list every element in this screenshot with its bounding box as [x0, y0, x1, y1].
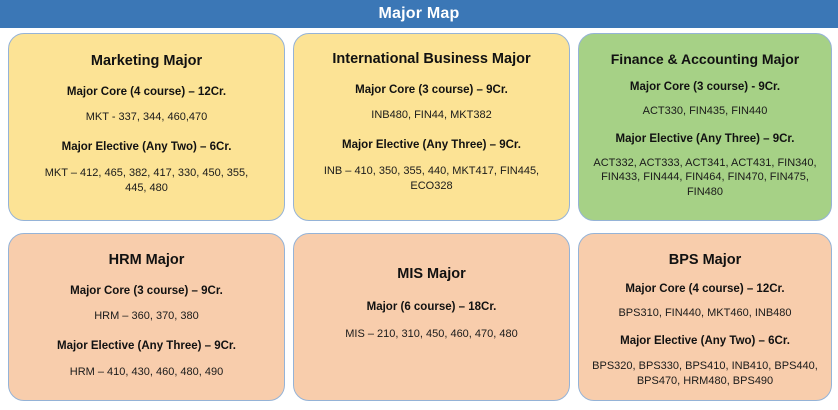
card-title: MIS Major: [397, 266, 465, 283]
core-course-list: ACT330, FIN435, FIN440: [643, 104, 768, 119]
major-cards-grid: Marketing Major Major Core (4 course) – …: [8, 33, 832, 403]
major-card-finance-accounting[interactable]: Finance & Accounting Major Major Core (3…: [578, 33, 832, 221]
core-heading: Major Core (4 course) – 12Cr.: [625, 283, 784, 297]
elective-heading: Major Elective (Any Three) – 9Cr.: [616, 133, 795, 147]
major-card-international-business[interactable]: International Business Major Major Core …: [293, 33, 570, 221]
core-course-list: MKT - 337, 344, 460,470: [86, 110, 208, 125]
core-course-list: INB480, FIN44, MKT382: [371, 108, 491, 123]
core-heading: Major Core (3 course) - 9Cr.: [630, 81, 780, 95]
card-title: BPS Major: [669, 252, 742, 269]
major-card-bps[interactable]: BPS Major Major Core (4 course) – 12Cr. …: [578, 233, 832, 401]
elective-heading: Major Elective (Any Two) – 6Cr.: [62, 141, 232, 155]
core-heading: Major Core (3 course) – 9Cr.: [355, 84, 508, 98]
elective-heading: Major Elective (Any Two) – 6Cr.: [620, 335, 790, 349]
core-course-list: BPS310, FIN440, MKT460, INB480: [618, 306, 791, 321]
major-card-mis[interactable]: MIS Major Major (6 course) – 18Cr. MIS –…: [293, 233, 570, 401]
elective-course-list: MKT – 412, 465, 382, 417, 330, 450, 355,…: [37, 166, 257, 196]
core-course-list: HRM – 360, 370, 380: [94, 309, 199, 324]
core-heading: Major (6 course) – 18Cr.: [367, 301, 497, 315]
elective-heading: Major Elective (Any Three) – 9Cr.: [57, 340, 236, 354]
major-card-marketing[interactable]: Marketing Major Major Core (4 course) – …: [8, 33, 285, 221]
card-title: Marketing Major: [91, 53, 202, 70]
elective-course-list: HRM – 410, 430, 460, 480, 490: [70, 365, 224, 380]
elective-course-list: ACT332, ACT333, ACT341, ACT431, FIN340, …: [593, 156, 818, 201]
major-card-hrm[interactable]: HRM Major Major Core (3 course) – 9Cr. H…: [8, 233, 285, 401]
core-heading: Major Core (3 course) – 9Cr.: [70, 285, 223, 299]
core-course-list: MIS – 210, 310, 450, 460, 470, 480: [345, 327, 517, 342]
elective-course-list: BPS320, BPS330, BPS410, INB410, BPS440, …: [591, 359, 819, 389]
elective-heading: Major Elective (Any Three) – 9Cr.: [342, 139, 521, 153]
card-title: Finance & Accounting Major: [611, 51, 800, 67]
page-header: Major Map: [0, 0, 838, 28]
major-map-page: Major Map Marketing Major Major Core (4 …: [0, 0, 838, 410]
page-title: Major Map: [379, 6, 460, 22]
card-title: HRM Major: [109, 252, 185, 269]
card-title: International Business Major: [332, 51, 530, 68]
core-heading: Major Core (4 course) – 12Cr.: [67, 86, 226, 100]
elective-course-list: INB – 410, 350, 355, 440, MKT417, FIN445…: [312, 164, 552, 194]
